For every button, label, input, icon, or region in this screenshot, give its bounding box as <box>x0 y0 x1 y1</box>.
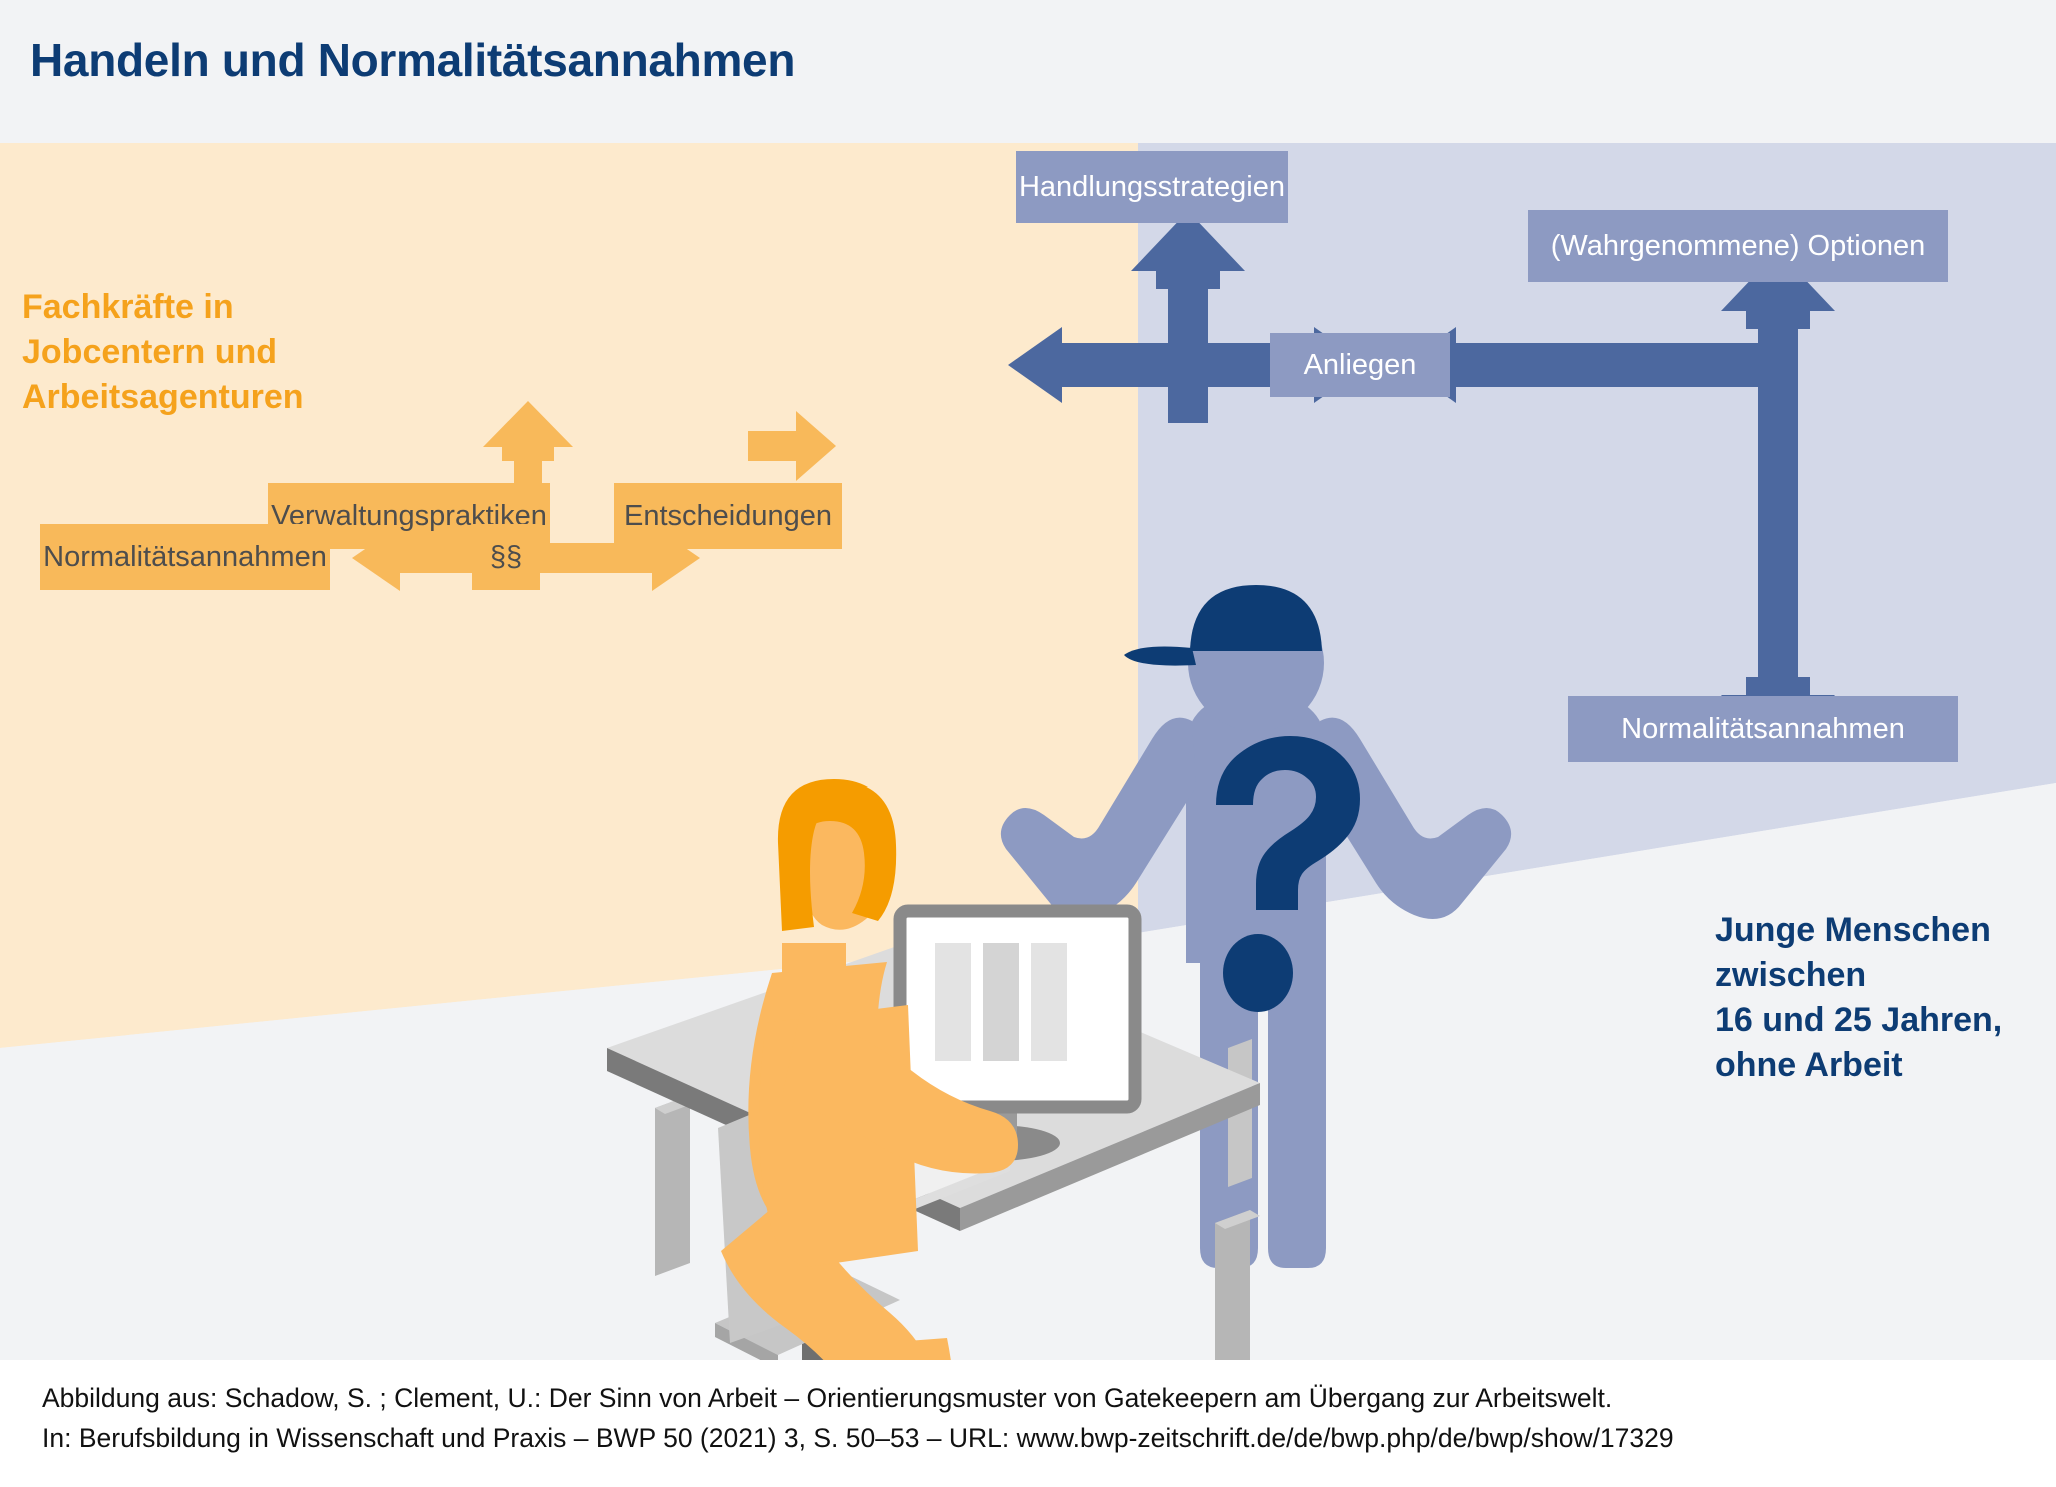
box-optionen[interactable]: (Wahrgenommene) Optionen <box>1528 210 1948 282</box>
box-normalitaetsannahmen-left[interactable]: Normalitätsannahmen <box>40 524 330 590</box>
box-anliegen[interactable]: Anliegen <box>1270 333 1450 397</box>
figure-caption: Abbildung aus: Schadow, S. ; Clement, U.… <box>42 1378 1674 1459</box>
box-label: Normalitätsannahmen <box>43 543 327 572</box>
caption-line-1: Abbildung aus: Schadow, S. ; Clement, U.… <box>42 1383 1612 1413</box>
scene: Fachkräfte in Jobcentern und Arbeitsagen… <box>0 143 2056 1360</box>
box-label: Handlungsstrategien <box>1019 173 1285 202</box>
box-label: Anliegen <box>1304 351 1417 380</box>
infographic-root: Handeln und Normalitätsannahmen Fachkräf… <box>0 0 2056 1487</box>
box-label: §§ <box>490 543 522 572</box>
box-paragraphen[interactable]: §§ <box>472 524 540 590</box>
box-normalitaetsannahmen-right[interactable]: Normalitätsannahmen <box>1568 696 1958 762</box>
box-label: (Wahrgenommene) Optionen <box>1551 232 1926 261</box>
page-title: Handeln und Normalitätsannahmen <box>30 33 795 87</box>
box-handlungsstrategien[interactable]: Handlungsstrategien <box>1016 151 1288 223</box>
box-label: Normalitätsannahmen <box>1621 715 1905 744</box>
box-entscheidungen[interactable]: Entscheidungen <box>614 483 842 549</box>
caption-line-2: In: Berufsbildung in Wissenschaft und Pr… <box>42 1423 1674 1453</box>
box-label: Entscheidungen <box>624 502 832 531</box>
